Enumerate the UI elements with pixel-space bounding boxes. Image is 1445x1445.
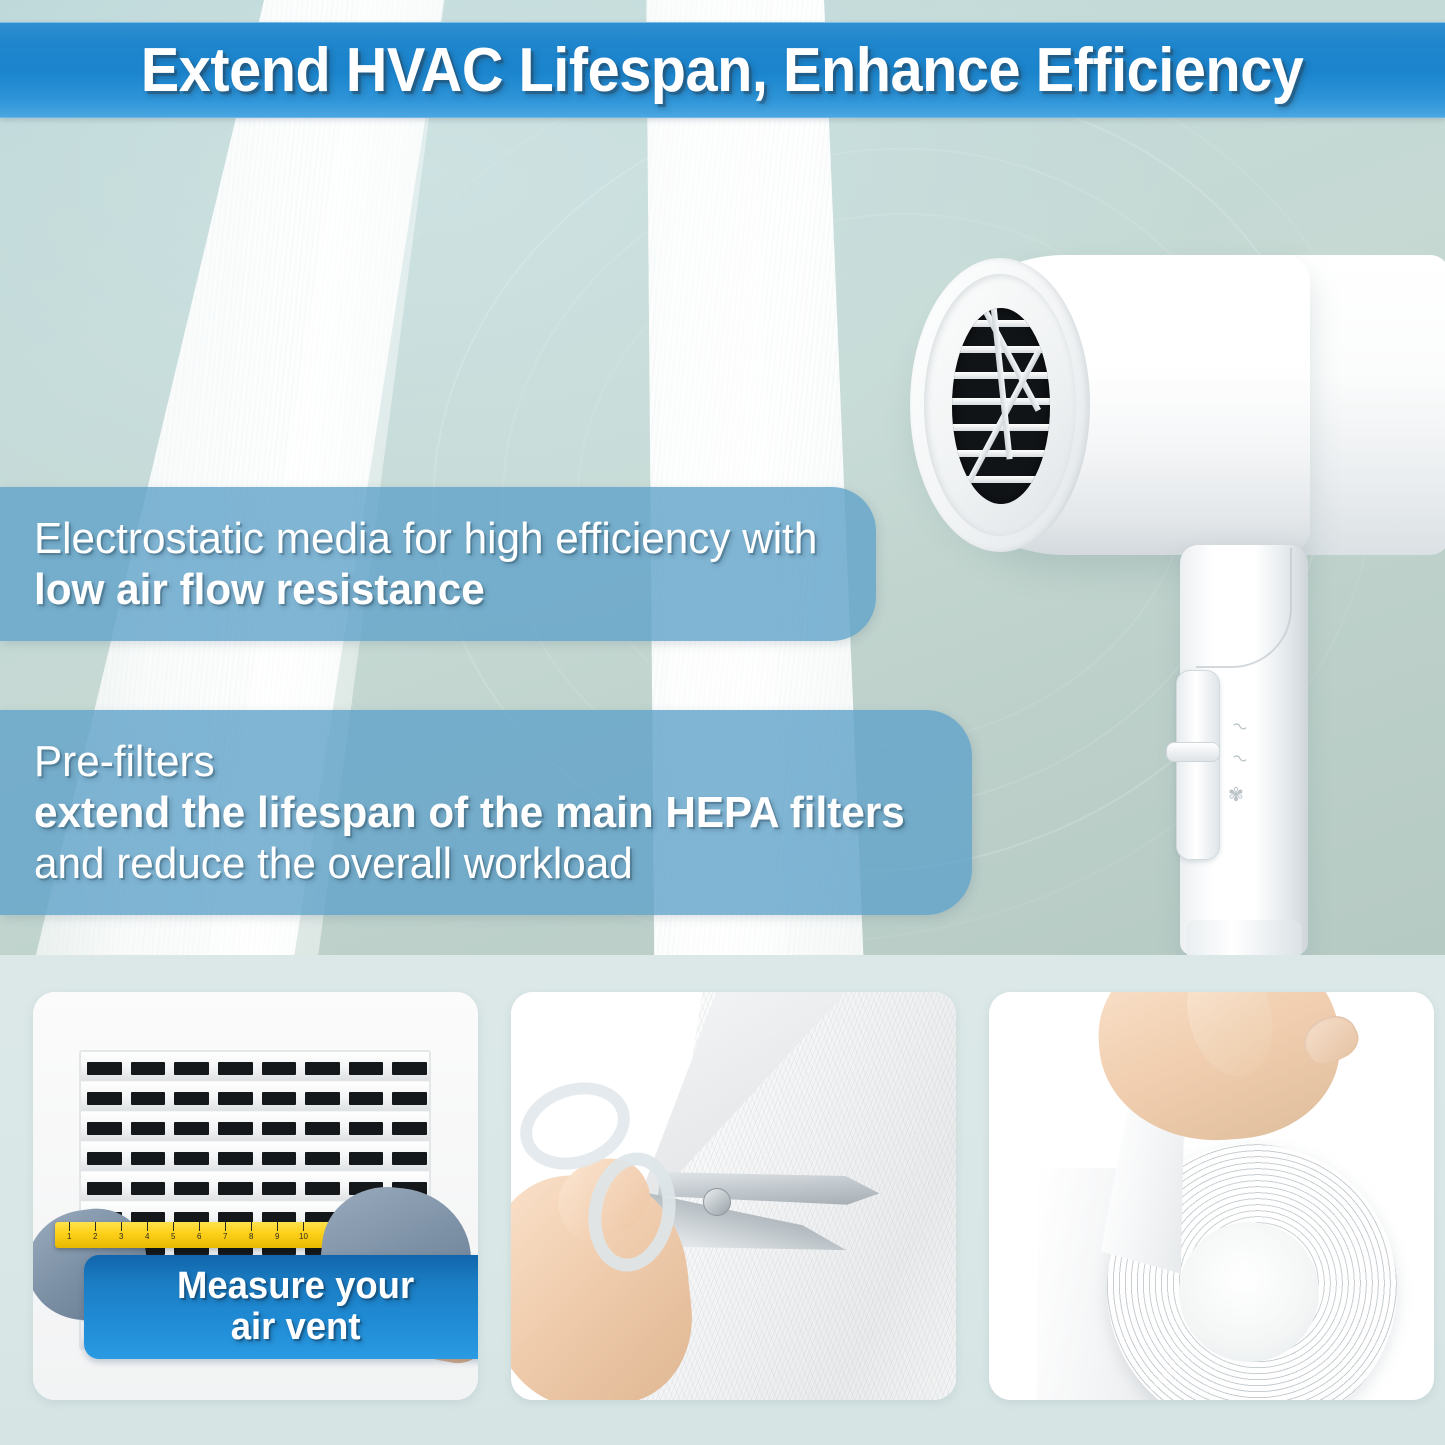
banner-title: Extend HVAC Lifespan, Enhance Efficiency: [141, 35, 1304, 106]
step-3-photo: [989, 992, 1434, 1400]
infographic-page: 〜 〜 ✾ Electrostatic media for high effic…: [0, 0, 1445, 1445]
step-1-caption: Measure your air vent: [84, 1255, 478, 1359]
scissor-pivot-screw: [703, 1188, 731, 1216]
callout-pre-filters: Pre-filters extend the lifespan of the m…: [0, 710, 972, 915]
hero-image-area: 〜 〜 ✾ Electrostatic media for high effic…: [0, 0, 1445, 955]
step-card-paste: Paste the adhesive tape: [989, 992, 1434, 1400]
step-card-cut: Cut it to the right size required: [511, 992, 956, 1400]
step-2-photo: [511, 992, 956, 1400]
tape-roll-core: [1179, 1222, 1319, 1362]
dryer-handle-base: [1186, 920, 1302, 955]
dryer-switch-knob[interactable]: [1166, 742, 1220, 762]
callout-2-line-1: Pre-filters: [34, 736, 896, 787]
steps-section: 1 2 3 4 5 6 7 8 9 10 11 12: [0, 955, 1445, 1445]
callout-1-line-2: low air flow resistance: [34, 564, 804, 615]
dryer-power-switch[interactable]: [1176, 670, 1220, 860]
ion-setting-icon: ✾: [1228, 786, 1244, 805]
thumb: [1176, 992, 1285, 1085]
callout-electrostatic-media: Electrostatic media for high efficiency …: [0, 487, 876, 641]
callout-1-line-1: Electrostatic media for high efficiency …: [34, 513, 804, 564]
header-banner: Extend HVAC Lifespan, Enhance Efficiency: [0, 22, 1445, 118]
caption-1-line-1: Measure your: [177, 1266, 414, 1307]
callout-2-line-3: and reduce the overall workload: [34, 838, 896, 889]
dryer-air-grille: [952, 308, 1050, 504]
callout-2-line-2: extend the lifespan of the main HEPA fil…: [34, 787, 896, 838]
step-card-measure: 1 2 3 4 5 6 7 8 9 10 11 12: [33, 992, 478, 1400]
caption-1-line-2: air vent: [231, 1307, 361, 1348]
